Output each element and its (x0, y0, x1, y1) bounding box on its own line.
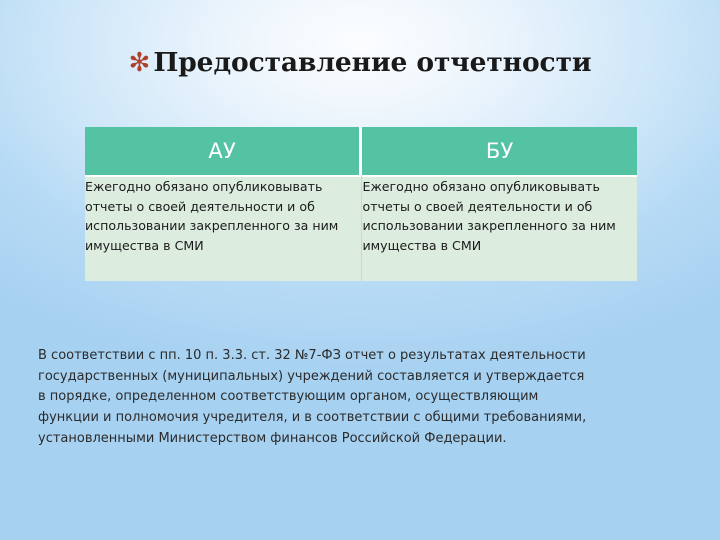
note-line: функции и полномочия учредителя, и в соо… (38, 408, 688, 429)
table-header-bu: БУ (362, 127, 637, 175)
table-row: Ежегодно обязано опубликовывать отчеты о… (85, 175, 637, 281)
slide-title: ✻Предоставление отчетности (0, 48, 720, 78)
comparison-table: АУ БУ Ежегодно обязано опубликовывать от… (85, 127, 637, 281)
note-line: в порядке, определенном соответствующим … (38, 387, 688, 408)
table-cell-bu-body: Ежегодно обязано опубликовывать отчеты о… (362, 175, 637, 281)
page-title: Предоставление отчетности (153, 48, 591, 78)
table-header-row: АУ БУ (85, 127, 637, 175)
note-line: государственных (муниципальных) учрежден… (38, 367, 688, 388)
table-header-au: АУ (85, 127, 362, 175)
slide-canvas: ✻Предоставление отчетности АУ БУ Ежегодн… (0, 0, 720, 540)
note-line: установленными Министерством финансов Ро… (38, 429, 688, 450)
note-line: В соответствии с пп. 10 п. 3.3. ст. 32 №… (38, 346, 688, 367)
note-paragraph: В соответствии с пп. 10 п. 3.3. ст. 32 №… (38, 346, 688, 450)
asterisk-bullet-icon: ✻ (129, 50, 151, 76)
table-cell-au-body: Ежегодно обязано опубликовывать отчеты о… (85, 175, 362, 281)
